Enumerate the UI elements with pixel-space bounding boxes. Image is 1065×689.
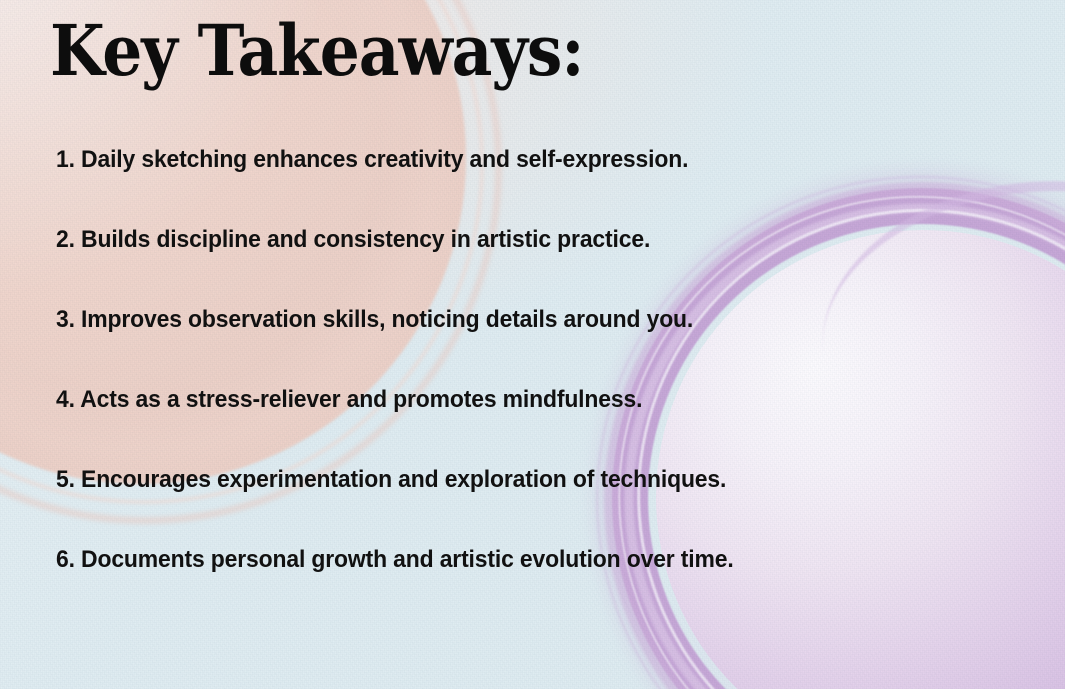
list-item: 4. Acts as a stress-reliever and promote… [56,387,991,467]
list-item: 1. Daily sketching enhances creativity a… [56,147,991,227]
list-item: 2. Builds discipline and consistency in … [56,227,991,307]
slide-content: Key Takeaways: 1. Daily sketching enhanc… [0,0,1065,689]
list-item: 5. Encourages experimentation and explor… [56,467,991,547]
page-title: Key Takeaways: [50,16,583,86]
key-takeaways-slide: Key Takeaways: 1. Daily sketching enhanc… [0,0,1065,689]
list-item: 6. Documents personal growth and artisti… [56,547,991,627]
list-item: 3. Improves observation skills, noticing… [56,307,991,387]
takeaways-list: 1. Daily sketching enhances creativity a… [56,147,1035,627]
